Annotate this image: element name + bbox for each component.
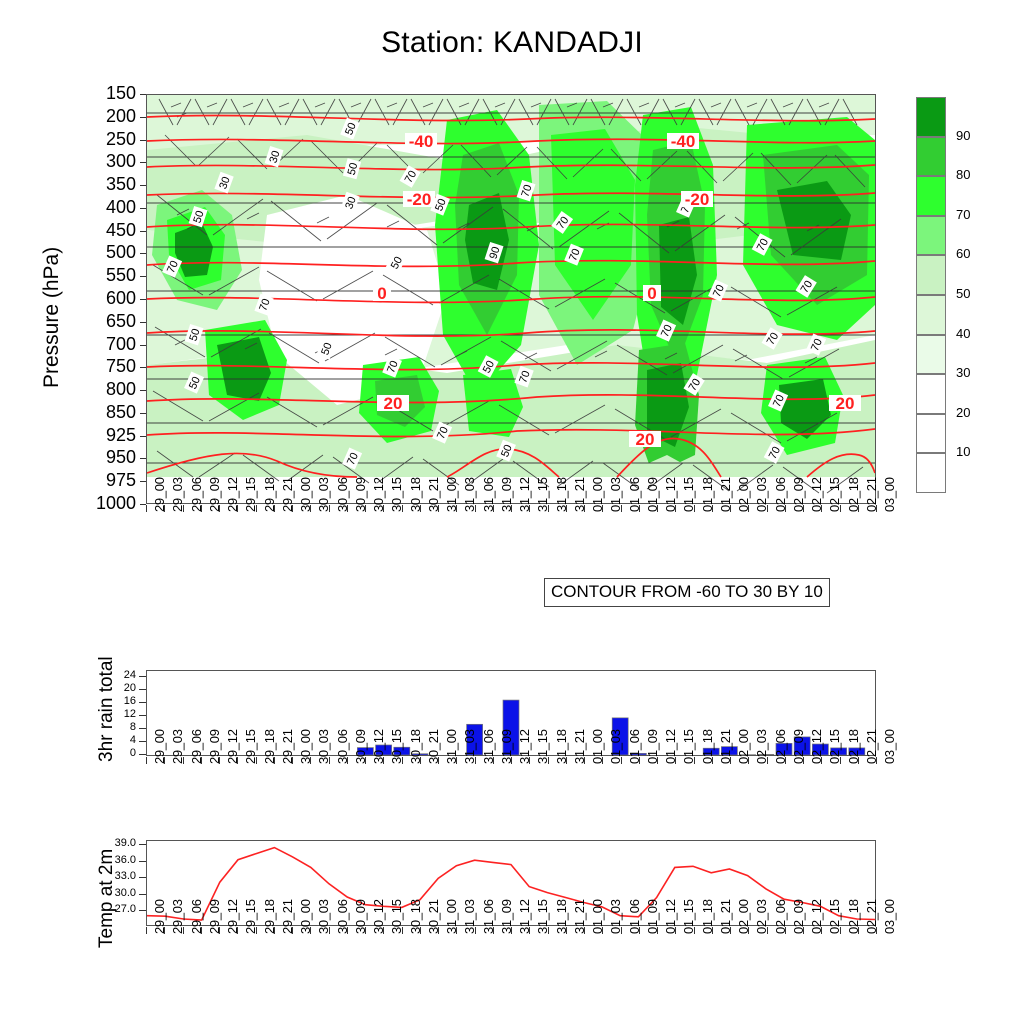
main-y-tick-550: 550 <box>70 265 136 286</box>
main-y-tick-700: 700 <box>70 334 136 355</box>
main-x-tick-mark <box>256 505 257 512</box>
temp-x-tick-mark <box>730 927 731 934</box>
rain-y-tickmark <box>139 754 146 755</box>
temp-x-tick-mark <box>201 927 202 934</box>
temp-x-tick-mark <box>256 927 257 934</box>
main-y-tick-1000: 1000 <box>70 493 136 514</box>
rain-x-tick-mark <box>237 757 238 764</box>
main-x-tick-mark <box>201 505 202 512</box>
main-y-tick-750: 750 <box>70 356 136 377</box>
temp-x-tick-03_00: 03_00 <box>882 899 897 934</box>
rain-y-tickmark <box>139 741 146 742</box>
rain-x-tick-mark <box>730 757 731 764</box>
rain-x-tick-mark <box>383 757 384 764</box>
rain-x-tick-mark <box>274 757 275 764</box>
rain-x-tick-mark <box>164 757 165 764</box>
colorbar-label-50: 50 <box>956 286 970 301</box>
rain-x-tick-mark <box>840 757 841 764</box>
temp-y-tickmark <box>139 910 146 911</box>
colorbar-label-30: 30 <box>956 365 970 380</box>
rain-x-tick-mark <box>639 757 640 764</box>
main-x-tick-mark <box>602 505 603 512</box>
main-y-tick-850: 850 <box>70 402 136 423</box>
main-x-tick-mark <box>274 505 275 512</box>
temp-x-tick-mark <box>420 927 421 934</box>
temp-x-tick-mark <box>803 927 804 934</box>
rain-x-tick-mark <box>256 757 257 764</box>
main-x-tick-mark <box>639 505 640 512</box>
main-y-tickmark <box>140 299 146 300</box>
rain-x-tick-mark <box>201 757 202 764</box>
temp-x-tick-mark <box>694 927 695 934</box>
main-x-tick-mark <box>420 505 421 512</box>
main-y-tickmark <box>140 458 146 459</box>
temp-y-tickmark <box>139 894 146 895</box>
colorbar-cell-6[interactable] <box>916 216 946 256</box>
temp-x-tick-mark <box>402 927 403 934</box>
main-x-tick-mark <box>821 505 822 512</box>
main-x-tick-mark <box>347 505 348 512</box>
main-y-tickmark <box>140 231 146 232</box>
rain-x-tick-mark <box>292 757 293 764</box>
main-x-tick-mark <box>493 505 494 512</box>
main-y-tick-925: 925 <box>70 425 136 446</box>
rain-x-tick-mark <box>675 757 676 764</box>
main-y-tickmark <box>140 162 146 163</box>
contour-range-note: CONTOUR FROM -60 TO 30 BY 10 <box>544 578 830 607</box>
temp-x-tick-mark <box>675 927 676 934</box>
colorbar-label-90: 90 <box>956 128 970 143</box>
rain-x-tick-mark <box>402 757 403 764</box>
colorbar-cell-0[interactable] <box>916 453 946 493</box>
rain-x-tick-mark <box>475 757 476 764</box>
temp-y-tickmark <box>139 844 146 845</box>
colorbar-label-80: 80 <box>956 167 970 182</box>
main-y-tick-600: 600 <box>70 288 136 309</box>
main-y-tickmark <box>140 413 146 414</box>
temp-x-tick-mark <box>183 927 184 934</box>
rain-x-tick-mark <box>694 757 695 764</box>
rain-x-tick-mark <box>347 757 348 764</box>
temp-x-tick-mark <box>164 927 165 934</box>
colorbar-cell-2[interactable] <box>916 374 946 414</box>
rain-x-tick-mark <box>438 757 439 764</box>
colorbar-cell-4[interactable] <box>916 295 946 335</box>
main-y-tick-250: 250 <box>70 129 136 150</box>
humidity-colorbar[interactable] <box>916 97 946 493</box>
main-x-tick-mark <box>584 505 585 512</box>
rain-x-tick-mark <box>712 757 713 764</box>
main-x-tick-mark <box>621 505 622 512</box>
main-x-tick-mark <box>566 505 567 512</box>
svg-text:-40: -40 <box>409 132 434 151</box>
rain-y-tick-16: 16 <box>96 695 136 707</box>
rain-x-tick-mark <box>803 757 804 764</box>
rain-x-tick-mark <box>146 757 147 764</box>
main-x-tick-mark <box>183 505 184 512</box>
main-x-tick-mark <box>675 505 676 512</box>
rain-x-tick-mark <box>748 757 749 764</box>
main-y-tickmark <box>140 140 146 141</box>
humidity-cross-section-plot[interactable]: 50 30 30 50 70 70 30 50 50 70 70 50 90 7… <box>146 94 876 504</box>
main-x-tick-mark <box>292 505 293 512</box>
main-x-tick-mark <box>840 505 841 512</box>
temp-x-tick-mark <box>858 927 859 934</box>
colorbar-cell-3[interactable] <box>916 335 946 375</box>
main-x-tick-mark <box>329 505 330 512</box>
temp-x-tick-mark <box>146 927 147 934</box>
main-y-tickmark <box>140 436 146 437</box>
temp-x-tick-mark <box>329 927 330 934</box>
colorbar-cell-9[interactable] <box>916 97 946 137</box>
main-x-tick-mark <box>164 505 165 512</box>
temp-y-tick-33: 33.0 <box>86 870 136 882</box>
main-y-tick-800: 800 <box>70 379 136 400</box>
main-x-tick-mark <box>858 505 859 512</box>
temp-x-tick-mark <box>347 927 348 934</box>
svg-text:0: 0 <box>377 284 386 303</box>
rain-y-tick-12: 12 <box>96 708 136 720</box>
temp-x-tick-mark <box>566 927 567 934</box>
main-y-tickmark <box>140 208 146 209</box>
main-y-tick-500: 500 <box>70 242 136 263</box>
rain-x-tick-mark <box>219 757 220 764</box>
main-x-tick-mark <box>803 505 804 512</box>
main-x-tick-mark <box>402 505 403 512</box>
rain-x-tick-mark <box>456 757 457 764</box>
main-y-tickmark <box>140 185 146 186</box>
colorbar-cell-8[interactable] <box>916 137 946 177</box>
temp-x-tick-mark <box>657 927 658 934</box>
rain-y-tickmark <box>139 728 146 729</box>
temp-x-tick-mark <box>712 927 713 934</box>
colorbar-cell-5[interactable] <box>916 255 946 295</box>
temp-x-tick-mark <box>511 927 512 934</box>
rain-x-tick-mark <box>183 757 184 764</box>
rain-y-tickmark <box>139 702 146 703</box>
temp-x-tick-mark <box>365 927 366 934</box>
rain-y-tick-0: 0 <box>96 747 136 759</box>
temp-x-tick-mark <box>475 927 476 934</box>
main-x-tick-mark <box>876 505 877 512</box>
temp-x-tick-mark <box>821 927 822 934</box>
svg-text:20: 20 <box>636 430 655 449</box>
main-y-tickmark <box>140 367 146 368</box>
svg-text:-20: -20 <box>685 190 710 209</box>
temp-x-tick-mark <box>237 927 238 934</box>
main-x-tick-mark <box>748 505 749 512</box>
main-y-tick-350: 350 <box>70 174 136 195</box>
main-y-tick-950: 950 <box>70 447 136 468</box>
temp-x-tick-mark <box>274 927 275 934</box>
rain-x-tick-mark <box>548 757 549 764</box>
temp-x-tick-mark <box>219 927 220 934</box>
main-x-tick-mark <box>365 505 366 512</box>
colorbar-label-20: 20 <box>956 405 970 420</box>
temp-x-tick-mark <box>456 927 457 934</box>
svg-text:-40: -40 <box>671 132 696 151</box>
main-y-tickmark <box>140 390 146 391</box>
main-x-tick-mark <box>548 505 549 512</box>
main-x-tick-mark <box>383 505 384 512</box>
main-y-tickmark <box>140 117 146 118</box>
temp-x-tick-mark <box>493 927 494 934</box>
main-x-tick-mark <box>237 505 238 512</box>
colorbar-label-10: 10 <box>956 444 970 459</box>
main-x-tick-mark <box>730 505 731 512</box>
rain-y-tick-24: 24 <box>96 669 136 681</box>
temp-x-tick-mark <box>584 927 585 934</box>
main-y-tick-400: 400 <box>70 197 136 218</box>
cross-section-svg: 50 30 30 50 70 70 30 50 50 70 70 50 90 7… <box>147 95 875 503</box>
temp-x-tick-mark <box>292 927 293 934</box>
temp-x-tick-mark <box>548 927 549 934</box>
colorbar-label-40: 40 <box>956 326 970 341</box>
rain-x-tick-mark <box>767 757 768 764</box>
rain-x-tick-mark <box>657 757 658 764</box>
main-y-tickmark <box>140 253 146 254</box>
colorbar-cell-1[interactable] <box>916 414 946 454</box>
rain-x-tick-mark <box>529 757 530 764</box>
rain-y-tick-4: 4 <box>96 734 136 746</box>
rain-y-tickmark <box>139 689 146 690</box>
main-y-tick-650: 650 <box>70 311 136 332</box>
main-x-tick-mark <box>511 505 512 512</box>
temp-x-tick-mark <box>785 927 786 934</box>
temp-y-tick-27: 27.0 <box>86 903 136 915</box>
main-x-tick-mark <box>310 505 311 512</box>
main-y-tickmark <box>140 322 146 323</box>
main-x-tick-mark <box>694 505 695 512</box>
main-x-tick-mark <box>785 505 786 512</box>
temp-x-tick-mark <box>621 927 622 934</box>
main-y-tickmark <box>140 481 146 482</box>
rain-x-tick-mark <box>602 757 603 764</box>
temp-x-tick-mark <box>840 927 841 934</box>
rain-x-tick-mark <box>493 757 494 764</box>
main-y-tick-200: 200 <box>70 106 136 127</box>
page-title: Station: KANDADJI <box>0 26 1024 60</box>
colorbar-cell-7[interactable] <box>916 176 946 216</box>
rain-x-tick-mark <box>420 757 421 764</box>
rain-x-tick-mark <box>785 757 786 764</box>
rain-y-tickmark <box>139 676 146 677</box>
rain-x-tick-mark <box>310 757 311 764</box>
main-x-tick-mark <box>657 505 658 512</box>
rain-x-tick-mark <box>329 757 330 764</box>
svg-text:0: 0 <box>647 284 656 303</box>
temp-x-tick-mark <box>639 927 640 934</box>
main-x-tick-mark <box>712 505 713 512</box>
main-x-tick-mark <box>438 505 439 512</box>
rain-x-tick-mark <box>876 757 877 764</box>
figure-canvas: Station: KANDADJI <box>0 0 1024 1024</box>
rain-y-tick-8: 8 <box>96 721 136 733</box>
main-y-tick-150: 150 <box>70 83 136 104</box>
svg-text:20: 20 <box>836 394 855 413</box>
rain-x-tick-mark <box>858 757 859 764</box>
main-y-tickmark <box>140 94 146 95</box>
temp-x-tick-mark <box>438 927 439 934</box>
main-y-axis-label: Pressure (hPa) <box>40 247 64 388</box>
temp-y-tickmark <box>139 877 146 878</box>
main-y-tick-450: 450 <box>70 220 136 241</box>
rain-x-tick-mark <box>511 757 512 764</box>
rain-x-tick-mark <box>566 757 567 764</box>
svg-text:20: 20 <box>384 394 403 413</box>
main-x-tick-03_00: 03_00 <box>882 477 897 512</box>
main-x-tick-mark <box>219 505 220 512</box>
main-y-tickmark <box>140 276 146 277</box>
rain-x-tick-mark <box>365 757 366 764</box>
temp-x-tick-mark <box>767 927 768 934</box>
main-x-tick-mark <box>767 505 768 512</box>
rain-y-tick-20: 20 <box>96 682 136 694</box>
temp-y-tick-36: 36.0 <box>86 854 136 866</box>
rain-x-tick-mark <box>621 757 622 764</box>
svg-text:-20: -20 <box>407 190 432 209</box>
rain-x-tick-03_00: 03_00 <box>882 729 897 764</box>
temp-x-tick-mark <box>876 927 877 934</box>
main-x-tick-mark <box>456 505 457 512</box>
temp-x-tick-mark <box>383 927 384 934</box>
colorbar-label-70: 70 <box>956 207 970 222</box>
colorbar-label-60: 60 <box>956 246 970 261</box>
rain-x-tick-mark <box>821 757 822 764</box>
temp-x-tick-mark <box>310 927 311 934</box>
rain-y-tickmark <box>139 715 146 716</box>
main-x-tick-mark <box>475 505 476 512</box>
main-x-tick-mark <box>146 505 147 512</box>
temp-x-tick-mark <box>748 927 749 934</box>
temp-x-tick-mark <box>529 927 530 934</box>
temp-y-tick-30: 30.0 <box>86 887 136 899</box>
main-y-tick-975: 975 <box>70 470 136 491</box>
rain-x-tick-mark <box>584 757 585 764</box>
main-y-tickmark <box>140 345 146 346</box>
temp-y-tickmark <box>139 861 146 862</box>
temp-y-tick-39: 39.0 <box>86 837 136 849</box>
temp-x-tick-mark <box>602 927 603 934</box>
main-y-tick-300: 300 <box>70 151 136 172</box>
main-x-tick-mark <box>529 505 530 512</box>
